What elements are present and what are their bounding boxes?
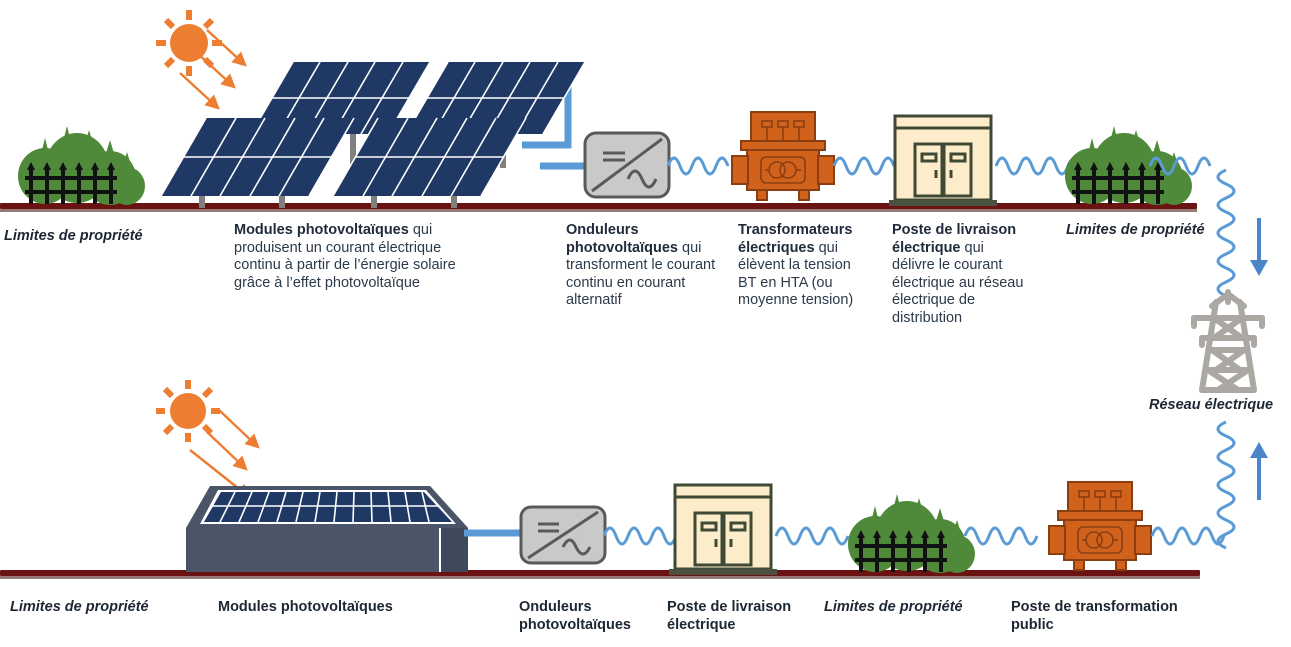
caption-poste-livraison-bold: Poste de livraison électrique xyxy=(892,222,1016,256)
label-onduleurs-pv-bottom: Onduleurs photovoltaïques xyxy=(519,599,654,634)
label-limites-gauche-bottom: Limites de propriété xyxy=(10,599,149,617)
label-property-limit-right-top: Limites de propriété xyxy=(1066,222,1205,240)
label-poste-livraison-bottom: Poste de livraison électrique xyxy=(667,599,812,634)
ac-wave-icon xyxy=(965,518,1045,554)
transformer-icon xyxy=(729,110,837,206)
caption-poste-livraison: Poste de livraison électrique qui délivr… xyxy=(892,222,1024,327)
ac-wave-icon xyxy=(834,148,894,184)
network-label: Réseau électrique xyxy=(1149,397,1273,415)
ground-shadow-bottom xyxy=(0,576,1200,579)
arrow-down-icon xyxy=(1245,218,1273,278)
label-limites-droite-bottom: Limites de propriété xyxy=(824,599,963,617)
delivery-station-icon xyxy=(889,114,997,206)
electric-pylon-icon xyxy=(1178,288,1278,398)
caption-modules: Modules photovoltaïques qui produisent u… xyxy=(234,222,466,292)
bush-fence-icon xyxy=(845,478,980,576)
caption-modules-bold: Modules photovoltaïques xyxy=(234,222,409,238)
inverter-icon xyxy=(519,505,607,565)
caption-onduleurs-bold: Onduleurs photovoltaïques xyxy=(566,222,678,256)
inverter-icon xyxy=(583,131,671,199)
caption-onduleurs: Onduleurs photovoltaïques qui transforme… xyxy=(566,222,716,310)
ac-wave-icon xyxy=(1152,518,1228,554)
dc-line-to-inverter xyxy=(464,528,522,538)
solar-panel-icon xyxy=(348,118,558,213)
label-property-limit-left-top: Limites de propriété xyxy=(4,228,143,246)
arrow-up-icon xyxy=(1245,440,1273,500)
label-modules-pv-bottom: Modules photovoltaïques xyxy=(218,599,393,617)
ac-wave-icon xyxy=(668,148,736,184)
bush-fence-icon xyxy=(15,108,150,208)
label-poste-transformation-bottom: Poste de transformation public xyxy=(1011,599,1201,634)
ac-wave-icon xyxy=(776,518,850,554)
ac-wave-icon xyxy=(604,518,676,554)
transformer-icon xyxy=(1046,480,1154,576)
delivery-station-icon xyxy=(669,483,777,575)
ac-wave-vertical-icon xyxy=(1208,170,1244,300)
diagram-canvas: Réseau électrique Limites de propriété L… xyxy=(0,0,1291,647)
caption-transformateurs: Transformateurs électriques qui élèvent … xyxy=(738,222,868,310)
house-with-panels-icon xyxy=(178,472,478,574)
